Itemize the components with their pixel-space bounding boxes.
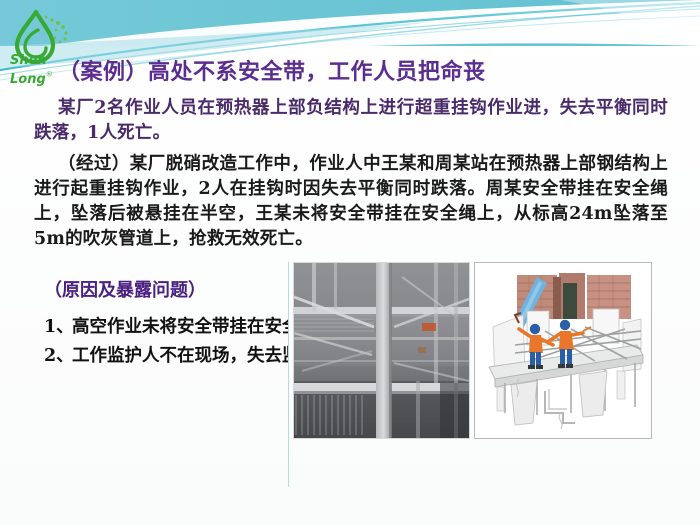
workers-on-roof-illustration	[474, 262, 652, 439]
cause-section: （原因及暴露问题） 1、高空作业未将安全带挂在安全绳上； 2、工作监护人不在现场…	[30, 268, 288, 428]
list-item-index: 2、	[44, 343, 72, 370]
cause-list: 1、高空作业未将安全带挂在安全绳上； 2、工作监护人不在现场，失去监护。	[44, 314, 288, 370]
list-item-label: 工作监护人不在现场，失去监护。	[72, 346, 288, 366]
logo-trademark-icon: ®	[46, 71, 53, 79]
summary-paragraph: 某厂2名作业人员在预热器上部负结构上进行超重挂钩作业进，失去平衡同时跌落，1人死…	[34, 96, 668, 146]
industrial-steel-structure-photo	[293, 262, 470, 439]
list-item: 2、工作监护人不在现场，失去监护。	[44, 343, 288, 370]
list-item-index: 1、	[44, 314, 72, 341]
page-title: （案例）高处不系安全带，工作人员把命丧	[58, 60, 658, 85]
list-item-label: 高空作业未将安全带挂在安全绳上；	[72, 317, 288, 337]
cause-section-heading: （原因及暴露问题）	[44, 276, 288, 302]
content-divider	[288, 262, 289, 487]
list-item: 1、高空作业未将安全带挂在安全绳上；	[44, 314, 288, 341]
detail-paragraph: （经过）某厂脱硝改造工作中，作业人中王某和周某站在预热器上部钢结构上进行起重挂钩…	[34, 152, 668, 251]
slide-canvas: Shen Long® （案例）高处不系安全带，工作人员把命丧 某厂2名作业人员在…	[0, 0, 700, 525]
logo-wordmark: Shen Long	[10, 53, 47, 87]
illustration-content	[475, 263, 651, 438]
photo-content	[294, 263, 469, 438]
